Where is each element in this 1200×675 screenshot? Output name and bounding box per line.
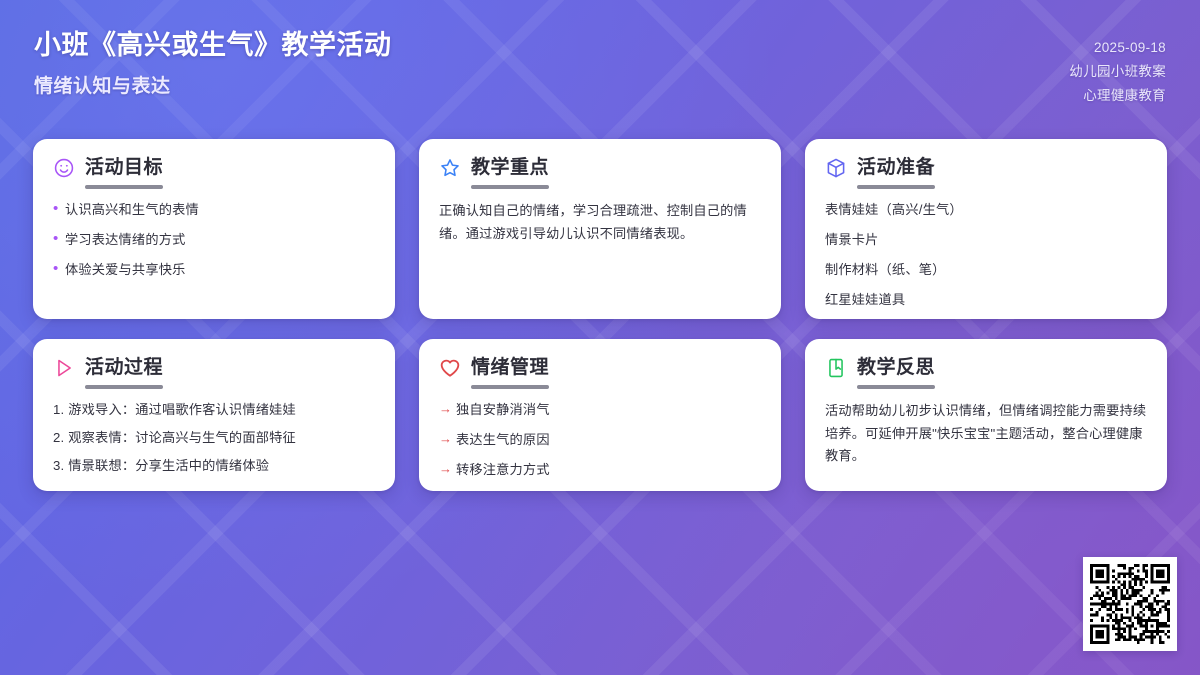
list-item: 学习表达情绪的方式 <box>53 230 375 249</box>
meta-date: 2025-09-18 <box>1094 38 1166 59</box>
page-title: 小班《高兴或生气》教学活动 <box>34 28 392 64</box>
card-body: 正确认知自己的情绪，学习合理疏泄、控制自己的情绪。通过游戏引导幼儿认识不同情绪表… <box>439 200 761 245</box>
list-item: 认识高兴和生气的表情 <box>53 200 375 219</box>
card-header: 教学重点 <box>439 157 761 179</box>
card-paragraph: 正确认知自己的情绪，学习合理疏泄、控制自己的情绪。通过游戏引导幼儿认识不同情绪表… <box>439 200 761 245</box>
card-list: 游戏导入：通过唱歌作客认识情绪娃娃观察表情：讨论高兴与生气的面部特征情景联想：分… <box>53 400 375 475</box>
heart-icon <box>439 357 461 379</box>
card-title: 活动目标 <box>85 157 163 179</box>
list-item: 游戏导入：通过唱歌作客认识情绪娃娃 <box>53 400 375 419</box>
page-subtitle: 情绪认知与表达 <box>34 71 392 98</box>
meta-topic: 心理健康教育 <box>1083 86 1166 107</box>
smiley-icon <box>53 157 75 179</box>
card-title: 教学重点 <box>471 157 549 179</box>
card-paragraph: 活动帮助幼儿初步认识情绪，但情绪调控能力需要持续培养。可延伸开展"快乐宝宝"主题… <box>825 400 1147 468</box>
list-item: 表达生气的原因 <box>439 430 761 449</box>
meta-category: 幼儿园小班教案 <box>1069 62 1166 83</box>
list-item: 观察表情：讨论高兴与生气的面部特征 <box>53 428 375 447</box>
card-header: 活动过程 <box>53 357 375 379</box>
star-icon <box>439 157 461 179</box>
title-underline <box>857 385 935 389</box>
card-title: 活动过程 <box>85 357 163 379</box>
title-underline <box>85 385 163 389</box>
card-body: 游戏导入：通过唱歌作客认识情绪娃娃观察表情：讨论高兴与生气的面部特征情景联想：分… <box>53 400 375 475</box>
list-item: 情景联想：分享生活中的情绪体验 <box>53 456 375 475</box>
list-item: 独自安静消消气 <box>439 400 761 419</box>
list-item: 情景卡片 <box>825 230 1147 249</box>
card-header: 教学反思 <box>825 357 1147 379</box>
card-title: 教学反思 <box>857 357 935 379</box>
qr-code[interactable] <box>1083 557 1177 651</box>
list-item: 红星娃娃道具 <box>825 290 1147 309</box>
header-meta: 2025-09-18 幼儿园小班教案 心理健康教育 <box>1069 28 1166 107</box>
play-icon <box>53 357 75 379</box>
slide-root: 小班《高兴或生气》教学活动 情绪认知与表达 2025-09-18 幼儿园小班教案… <box>0 0 1200 675</box>
card-body: 表情娃娃（高兴/生气）情景卡片制作材料（纸、笔）红星娃娃道具 <box>825 200 1147 310</box>
header-left: 小班《高兴或生气》教学活动 情绪认知与表达 <box>34 28 392 98</box>
qr-code-image <box>1090 564 1170 644</box>
card-activity-process: 活动过程游戏导入：通过唱歌作客认识情绪娃娃观察表情：讨论高兴与生气的面部特征情景… <box>33 339 395 491</box>
card-body: 活动帮助幼儿初步认识情绪，但情绪调控能力需要持续培养。可延伸开展"快乐宝宝"主题… <box>825 400 1147 468</box>
card-header: 活动准备 <box>825 157 1147 179</box>
card-list: 独自安静消消气表达生气的原因转移注意力方式 <box>439 400 761 479</box>
package-icon <box>825 157 847 179</box>
card-emotion-management: 情绪管理独自安静消消气表达生气的原因转移注意力方式 <box>419 339 781 491</box>
card-activity-preparation: 活动准备表情娃娃（高兴/生气）情景卡片制作材料（纸、笔）红星娃娃道具 <box>805 139 1167 319</box>
card-activity-goals: 活动目标认识高兴和生气的表情学习表达情绪的方式体验关爱与共享快乐 <box>33 139 395 319</box>
card-list: 表情娃娃（高兴/生气）情景卡片制作材料（纸、笔）红星娃娃道具 <box>825 200 1147 310</box>
card-title: 情绪管理 <box>471 357 549 379</box>
list-item: 转移注意力方式 <box>439 460 761 479</box>
card-body: 认识高兴和生气的表情学习表达情绪的方式体验关爱与共享快乐 <box>53 200 375 279</box>
title-underline <box>85 185 163 189</box>
list-item: 制作材料（纸、笔） <box>825 260 1147 279</box>
card-title: 活动准备 <box>857 157 935 179</box>
card-header: 活动目标 <box>53 157 375 179</box>
card-body: 独自安静消消气表达生气的原因转移注意力方式 <box>439 400 761 479</box>
card-grid: 活动目标认识高兴和生气的表情学习表达情绪的方式体验关爱与共享快乐教学重点正确认知… <box>33 139 1167 491</box>
slide-header: 小班《高兴或生气》教学活动 情绪认知与表达 2025-09-18 幼儿园小班教案… <box>0 0 1200 128</box>
card-list: 认识高兴和生气的表情学习表达情绪的方式体验关爱与共享快乐 <box>53 200 375 279</box>
card-teaching-focus: 教学重点正确认知自己的情绪，学习合理疏泄、控制自己的情绪。通过游戏引导幼儿认识不… <box>419 139 781 319</box>
book-icon <box>825 357 847 379</box>
title-underline <box>471 385 549 389</box>
list-item: 体验关爱与共享快乐 <box>53 260 375 279</box>
title-underline <box>471 185 549 189</box>
card-teaching-reflection: 教学反思活动帮助幼儿初步认识情绪，但情绪调控能力需要持续培养。可延伸开展"快乐宝… <box>805 339 1167 491</box>
title-underline <box>857 185 935 189</box>
card-header: 情绪管理 <box>439 357 761 379</box>
list-item: 表情娃娃（高兴/生气） <box>825 200 1147 219</box>
